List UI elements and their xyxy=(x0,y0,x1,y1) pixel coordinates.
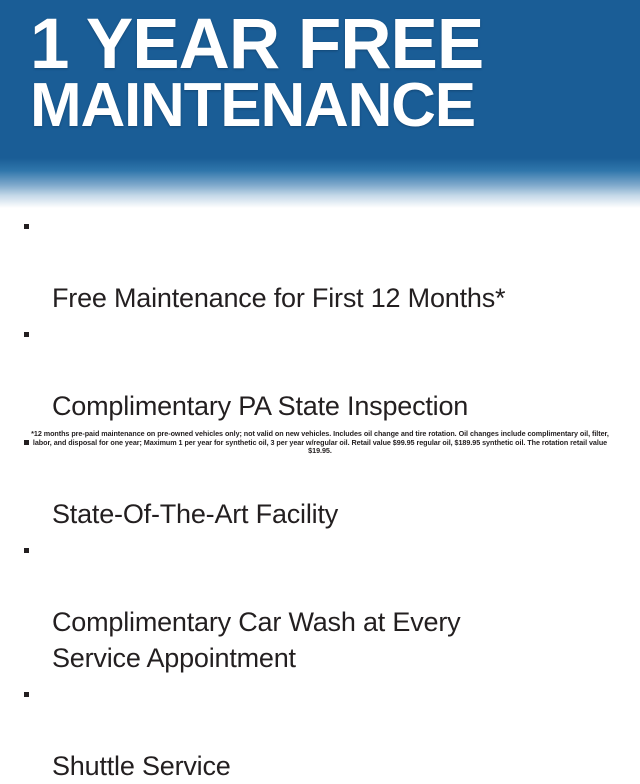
disclaimer-fine-print: *12 months pre-paid maintenance on pre-o… xyxy=(0,430,640,456)
benefit-label: Complimentary PA State Inspection xyxy=(52,391,468,421)
promo-headline-line-1: 1 YEAR FREE xyxy=(30,11,618,80)
square-bullet-icon xyxy=(24,224,29,229)
benefits-list: Free Maintenance for First 12 Months* Co… xyxy=(0,208,640,784)
benefit-label: Shuttle Service xyxy=(52,751,231,781)
benefit-label: Complimentary Car Wash at Every Service … xyxy=(52,607,460,673)
square-bullet-icon xyxy=(24,692,29,697)
list-item: Complimentary PA State Inspection xyxy=(18,316,624,424)
list-item: Free Maintenance for First 12 Months* xyxy=(18,208,624,316)
promo-banner-text-block: 1 YEAR FREE MAINTENANCE xyxy=(0,0,640,136)
promo-banner: 1 YEAR FREE MAINTENANCE xyxy=(0,0,640,208)
square-bullet-icon xyxy=(24,548,29,553)
list-item: Complimentary Car Wash at Every Service … xyxy=(18,532,624,676)
benefit-label: State-Of-The-Art Facility xyxy=(52,499,338,529)
list-item: Shuttle Service xyxy=(18,676,624,784)
benefit-label: Free Maintenance for First 12 Months* xyxy=(52,283,505,313)
promo-headline-line-2: MAINTENANCE xyxy=(30,76,618,136)
square-bullet-icon xyxy=(24,332,29,337)
promo-advertisement-card: 1 YEAR FREE MAINTENANCE Free Maintenance… xyxy=(0,0,640,480)
